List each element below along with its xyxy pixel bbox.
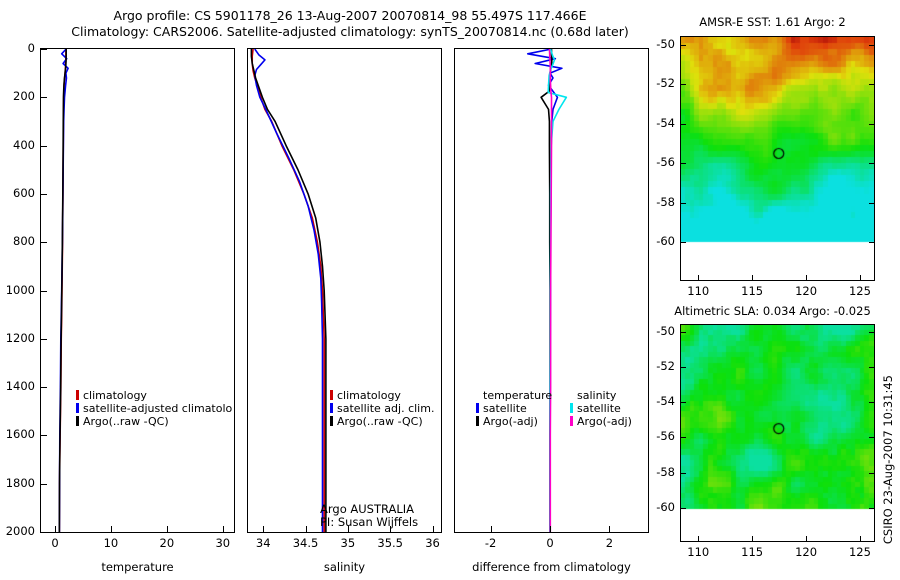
difference-x-axis-label: difference from climatology: [454, 560, 649, 574]
map-y-tick-mark: [869, 473, 874, 474]
temperature-profile-curves: [41, 49, 234, 532]
difference-legend-temperature: temperature satellite Argo(-adj): [476, 389, 554, 434]
map-y-tick-mark: [681, 437, 686, 438]
y-tick-label: 200: [1, 89, 35, 103]
map-y-tick-label: -60: [647, 500, 675, 514]
difference-profile-curves: [455, 49, 648, 532]
y-tick-mark: [41, 49, 47, 50]
map-y-tick-mark: [869, 203, 874, 204]
map-y-tick-mark: [681, 508, 686, 509]
map-y-tick-mark: [681, 84, 686, 85]
map-x-tick-label: 110: [668, 284, 728, 298]
map-x-tick-label: 120: [776, 545, 836, 559]
sla-map-title: Altimetric SLA: 0.034 Argo: -0.025: [660, 303, 885, 319]
x-tick-label: 36: [403, 536, 463, 550]
sst-map-panel: [680, 36, 875, 281]
y-tick-mark: [41, 387, 47, 388]
map-y-tick-mark: [681, 473, 686, 474]
difference-legend-salinity: salinity satellite Argo(-adj): [570, 389, 648, 434]
legend-label-temp-argo: Argo(-adj): [483, 415, 538, 428]
map-y-tick-mark: [681, 242, 686, 243]
legend-heading-temperature: temperature: [476, 389, 554, 402]
map-x-tick-mark: [698, 536, 699, 541]
map-y-tick-mark: [681, 367, 686, 368]
y-tick-label: 1000: [1, 283, 35, 297]
y-tick-mark: [41, 242, 47, 243]
y-tick-label: 1600: [1, 427, 35, 441]
map-y-tick-mark: [869, 437, 874, 438]
map-y-tick-label: -56: [647, 155, 675, 169]
map-y-tick-label: -52: [647, 359, 675, 373]
y-tick-label: 400: [1, 138, 35, 152]
salinity-profile-curves: [248, 49, 441, 532]
legend-swatch-temp-argo: [476, 416, 479, 426]
map-y-tick-label: -52: [647, 76, 675, 90]
y-tick-mark: [41, 484, 47, 485]
y-tick-label: 0: [1, 41, 35, 55]
legend-label-argo: Argo(..raw -QC): [83, 415, 169, 428]
sla-map-panel: [680, 324, 875, 542]
map-y-tick-mark: [681, 332, 686, 333]
x-tick-mark: [111, 526, 112, 532]
map-x-tick-label: 110: [668, 545, 728, 559]
map-x-tick-mark: [752, 275, 753, 280]
map-x-tick-label: 125: [830, 545, 890, 559]
y-tick-label: 1400: [1, 379, 35, 393]
argo-pi-label: PI: Susan Wijffels: [320, 516, 445, 529]
x-tick-label: 20: [137, 536, 197, 550]
map-x-tick-label: 125: [830, 284, 890, 298]
sla-heatmap: [681, 325, 874, 541]
sst-heatmap: [681, 37, 874, 280]
map-y-tick-mark: [869, 242, 874, 243]
map-y-tick-mark: [869, 124, 874, 125]
map-x-tick-mark: [806, 536, 807, 541]
map-y-tick-mark: [869, 84, 874, 85]
map-x-tick-mark: [698, 275, 699, 280]
legend-label-climatology: climatology: [83, 389, 147, 402]
map-y-tick-label: -50: [647, 324, 675, 338]
temperature-legend: climatology satellite-adjusted climatolo…: [76, 389, 235, 434]
y-tick-mark: [41, 291, 47, 292]
map-x-tick-mark: [860, 275, 861, 280]
map-y-tick-label: -54: [647, 394, 675, 408]
y-tick-mark: [41, 435, 47, 436]
legend-swatch-sal-argo: [570, 416, 573, 426]
y-tick-mark: [41, 97, 47, 98]
map-x-tick-label: 115: [722, 545, 782, 559]
legend-label-satellite: satellite adj. clim.: [337, 402, 434, 415]
legend-swatch-climatology: [76, 390, 79, 400]
sst-map-title: AMSR-E SST: 1.61 Argo: 2: [660, 14, 885, 30]
x-tick-mark: [491, 526, 492, 532]
map-y-tick-mark: [681, 402, 686, 403]
legend-label-sal-satellite: satellite: [577, 402, 621, 415]
map-y-tick-mark: [681, 163, 686, 164]
x-tick-mark: [306, 526, 307, 532]
map-y-tick-label: -60: [647, 234, 675, 248]
argo-credit-block: Argo AUSTRALIA PI: Susan Wijffels: [320, 503, 445, 533]
csiro-timestamp: CSIRO 23-Aug-2007 10:31:45: [881, 375, 895, 544]
x-tick-mark: [167, 526, 168, 532]
y-tick-label: 600: [1, 186, 35, 200]
legend-label-climatology: climatology: [337, 389, 401, 402]
legend-swatch-temp-satellite: [476, 403, 479, 413]
x-tick-label: 0: [25, 536, 85, 550]
salinity-x-axis-label: salinity: [247, 560, 442, 574]
map-x-tick-label: 115: [722, 284, 782, 298]
map-y-tick-label: -58: [647, 195, 675, 209]
legend-swatch-argo: [76, 416, 79, 426]
difference-plot-panel: [454, 48, 649, 533]
temperature-plot-panel: [40, 48, 235, 533]
map-y-tick-mark: [869, 45, 874, 46]
map-y-tick-mark: [681, 203, 686, 204]
map-y-tick-label: -58: [647, 465, 675, 479]
x-tick-mark: [55, 526, 56, 532]
x-tick-mark: [263, 526, 264, 532]
x-tick-mark: [550, 526, 551, 532]
x-tick-mark: [223, 526, 224, 532]
legend-swatch-satellite: [330, 403, 333, 413]
y-tick-label: 800: [1, 234, 35, 248]
temperature-x-axis-label: temperature: [40, 560, 235, 574]
map-y-tick-mark: [869, 508, 874, 509]
legend-label-argo: Argo(..raw -QC): [337, 415, 423, 428]
legend-label-satellite: satellite-adjusted climatolo: [83, 402, 232, 415]
legend-swatch-climatology: [330, 390, 333, 400]
x-tick-mark: [609, 526, 610, 532]
map-y-tick-mark: [681, 45, 686, 46]
map-y-tick-label: -54: [647, 116, 675, 130]
map-x-tick-mark: [806, 275, 807, 280]
y-tick-label: 1200: [1, 331, 35, 345]
map-y-tick-mark: [869, 332, 874, 333]
salinity-plot-panel: [247, 48, 442, 533]
legend-swatch-sal-satellite: [570, 403, 573, 413]
legend-heading-salinity: salinity: [570, 389, 648, 402]
x-tick-label: 2: [579, 536, 639, 550]
map-y-tick-label: -50: [647, 37, 675, 51]
map-y-tick-mark: [681, 124, 686, 125]
y-tick-mark: [41, 532, 47, 533]
legend-label-sal-argo: Argo(-adj): [577, 415, 632, 428]
map-y-tick-mark: [869, 402, 874, 403]
x-tick-label: 10: [81, 536, 141, 550]
x-tick-label: 0: [520, 536, 580, 550]
salinity-legend: climatology satellite adj. clim. Argo(..…: [330, 389, 442, 434]
map-x-tick-mark: [860, 536, 861, 541]
y-tick-mark: [41, 146, 47, 147]
legend-label-temp-satellite: satellite: [483, 402, 527, 415]
map-y-tick-mark: [869, 163, 874, 164]
figure-title-line1: Argo profile: CS 5901178_26 13-Aug-2007 …: [0, 8, 700, 24]
y-tick-mark: [41, 194, 47, 195]
legend-swatch-argo: [330, 416, 333, 426]
map-y-tick-label: -56: [647, 429, 675, 443]
map-x-tick-label: 120: [776, 284, 836, 298]
legend-swatch-satellite: [76, 403, 79, 413]
map-y-tick-mark: [869, 367, 874, 368]
x-tick-label: -2: [461, 536, 521, 550]
figure-root: Argo profile: CS 5901178_26 13-Aug-2007 …: [0, 0, 900, 580]
y-tick-mark: [41, 339, 47, 340]
map-x-tick-mark: [752, 536, 753, 541]
y-tick-label: 1800: [1, 476, 35, 490]
figure-title-line2: Climatology: CARS2006. Satellite-adjuste…: [0, 24, 700, 40]
